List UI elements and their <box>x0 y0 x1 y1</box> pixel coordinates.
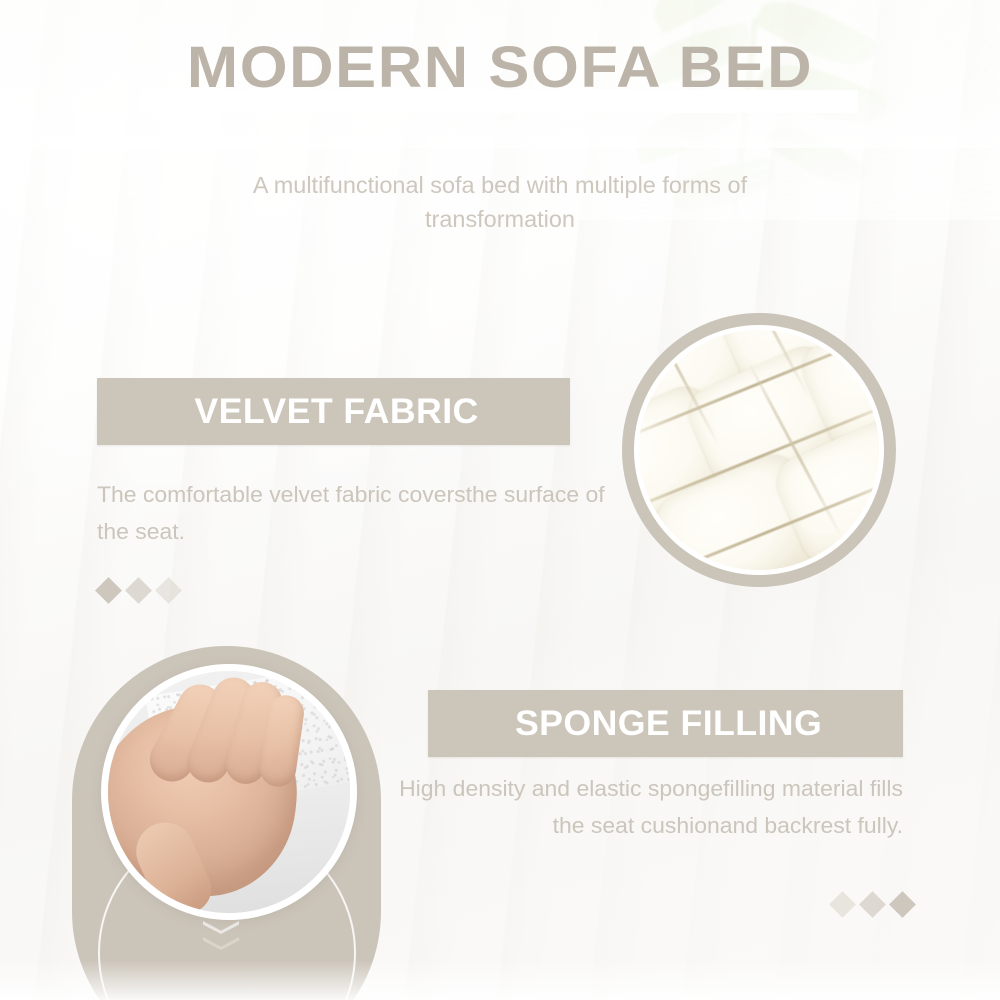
feature-body-velvet-fabric: The comfortable velvet fabric coversthe … <box>97 476 607 550</box>
diamond-icon <box>125 577 152 604</box>
sponge-filling-photo <box>108 671 350 913</box>
feature-heading-velvet-fabric: VELVET FABRIC <box>97 378 570 445</box>
diamond-icon <box>889 891 916 918</box>
infographic-page: MODERN SOFA BED A multifunctional sofa b… <box>0 0 1000 1000</box>
diamond-icon <box>155 577 182 604</box>
page-subtitle: A multifunctional sofa bed with multiple… <box>194 168 806 236</box>
page-title: MODERN SOFA BED <box>0 34 1000 101</box>
chevron-down-icon <box>203 921 239 934</box>
velvet-fabric-photo <box>639 330 879 570</box>
feature-heading-label: SPONGE FILLING <box>423 704 908 744</box>
feature-heading-label: VELVET FABRIC <box>92 392 574 432</box>
diamond-icon <box>95 577 122 604</box>
chevron-down-decor <box>203 921 239 950</box>
diamond-decor-right <box>833 895 912 914</box>
sponge-filling-photo-circle <box>101 664 357 920</box>
diamond-decor-left <box>99 581 178 600</box>
diamond-icon <box>829 891 856 918</box>
diamond-icon <box>859 891 886 918</box>
feature-heading-sponge-filling: SPONGE FILLING <box>428 690 903 757</box>
feature-body-sponge-filling: High density and elastic spongefilling m… <box>393 770 903 844</box>
velvet-fabric-photo-circle <box>622 313 896 587</box>
chevron-down-icon <box>203 937 239 950</box>
